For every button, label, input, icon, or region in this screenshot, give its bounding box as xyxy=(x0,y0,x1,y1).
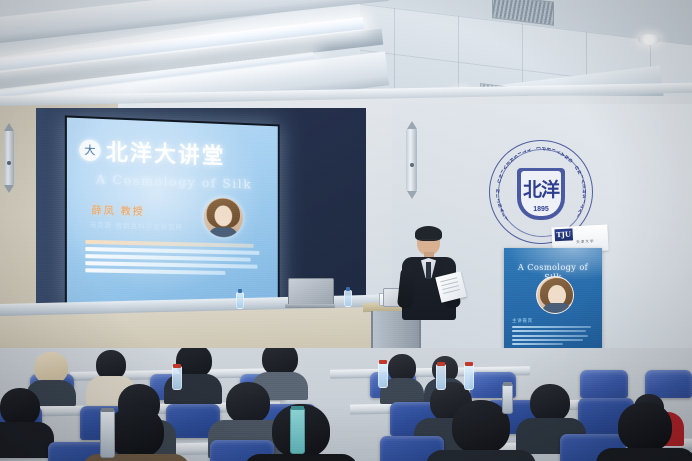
emblem-ring-char: Y xyxy=(525,148,532,153)
presenter-tie xyxy=(426,262,431,279)
banner-section-label: 主讲嘉宾 xyxy=(512,318,533,324)
slide-body-line xyxy=(85,247,259,255)
speaker-driver-icon xyxy=(7,161,11,165)
lecture-hall-photo: TIANJIN UNIVERSITY (PEIYANG UNIVERSITY) … xyxy=(0,0,692,461)
bottle-cap xyxy=(437,362,445,366)
thermos-flask xyxy=(502,384,513,414)
banner-body-line xyxy=(512,343,563,345)
slide-body-line xyxy=(85,261,257,268)
emblem-ring-char: ) xyxy=(576,212,581,218)
laptop-base xyxy=(285,304,335,308)
person-head xyxy=(226,382,270,424)
bottle-cap xyxy=(238,289,242,293)
slide-body-line xyxy=(85,268,225,274)
person-head xyxy=(530,384,570,422)
water-bottle xyxy=(436,364,446,390)
wall-speaker-left xyxy=(4,130,14,186)
banner-body-line xyxy=(512,330,586,332)
banner-body-line xyxy=(512,326,591,328)
banner-body-line xyxy=(512,339,583,341)
slide-body-text xyxy=(85,240,264,279)
slide-title-row: 大 北洋大讲堂 xyxy=(79,134,268,171)
water-bottle xyxy=(464,364,474,390)
laptop-lid xyxy=(288,278,334,306)
person-shoulders xyxy=(244,454,358,461)
banner-portrait xyxy=(536,276,574,314)
water-bottle xyxy=(236,292,244,309)
water-bottle xyxy=(172,366,182,390)
projection-screen: 大 北洋大讲堂 A Cosmology of Silk 薛凤 教授 马克斯·普朗… xyxy=(65,115,280,311)
table-laptop xyxy=(288,278,332,308)
person-head xyxy=(108,406,164,458)
university-logo-icon: TJU xyxy=(554,228,573,241)
banner-body-line xyxy=(512,335,588,337)
person-shoulders xyxy=(596,448,692,461)
seat xyxy=(580,370,628,398)
bottle-cap xyxy=(173,364,181,368)
portrait-face xyxy=(215,205,233,226)
wall-speaker-right xyxy=(406,128,417,192)
emblem-year: 1895 xyxy=(521,206,561,213)
water-bottle xyxy=(344,290,352,307)
person-shoulders xyxy=(426,450,536,461)
water-bottle xyxy=(378,362,388,388)
audience-area xyxy=(0,348,692,461)
slide-title-cn: 北洋大讲堂 xyxy=(106,134,226,171)
top-sign-text: 天津大学 xyxy=(576,239,595,245)
bottle-cap xyxy=(465,362,473,366)
emblem-ring-char: N xyxy=(496,188,501,194)
person-head xyxy=(0,388,40,426)
bottle-cap xyxy=(346,287,350,291)
thermos-flask xyxy=(290,408,305,454)
emblem-shield-character: 北洋 xyxy=(521,173,561,207)
speaker-driver-icon xyxy=(410,163,414,167)
slide-speaker-portrait xyxy=(204,197,243,238)
portrait-shoulders xyxy=(209,227,238,238)
glasses-icon xyxy=(418,239,439,245)
emblem-ring-char: G xyxy=(566,156,573,163)
banner-body-text xyxy=(512,326,594,347)
slide-body-line xyxy=(85,254,250,261)
bottle-cap xyxy=(503,382,512,386)
person-head xyxy=(618,402,672,452)
bottle-cap xyxy=(291,406,304,410)
thermos-flask xyxy=(100,410,115,458)
person-shoulders xyxy=(82,454,190,461)
recessed-downlight xyxy=(638,34,660,45)
rollup-banner: A Cosmology of Silk 主讲嘉宾 xyxy=(504,248,602,363)
person-shoulders xyxy=(0,422,54,458)
bottle-cap xyxy=(379,360,387,364)
slide-logo-icon: 大 xyxy=(79,139,100,161)
portrait-shoulders xyxy=(542,303,572,314)
projected-slide: 大 北洋大讲堂 A Cosmology of Silk 薛凤 教授 马克斯·普朗… xyxy=(67,117,278,309)
slide-speaker-name: 薛凤 教授 xyxy=(91,202,144,219)
presenter xyxy=(398,228,460,320)
bottle-cap xyxy=(101,408,114,412)
